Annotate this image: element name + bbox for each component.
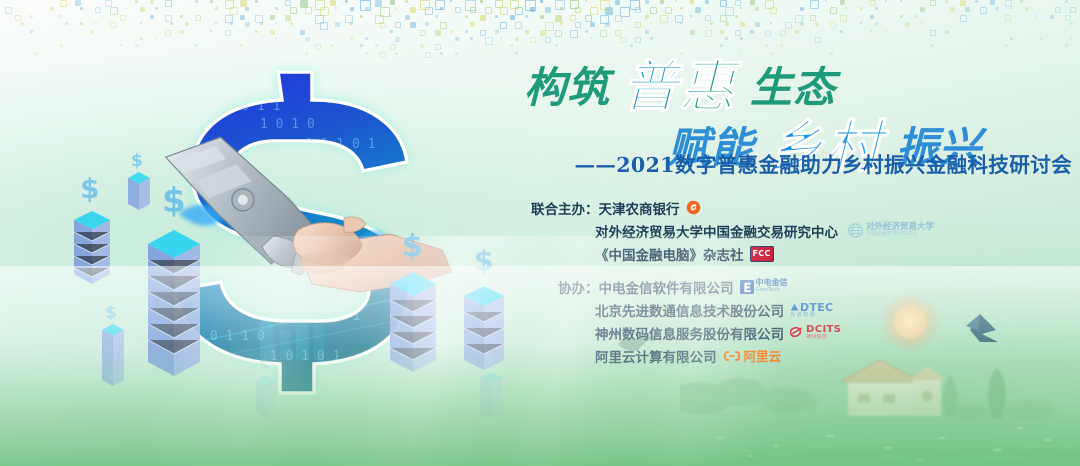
farmhouse-icon xyxy=(840,360,945,416)
subtitle: ——2021数字普惠金融助力乡村振兴金融科技研讨会 xyxy=(520,148,1072,178)
svg-text:普惠: 普惠 xyxy=(622,55,743,120)
svg-text:$: $ xyxy=(105,303,117,323)
organizer-name-1: 天津农商银行 xyxy=(599,198,680,218)
svg-text:构筑: 构筑 xyxy=(524,63,616,112)
svg-text:1 0 1 1 0: 1 0 1 1 0 xyxy=(190,267,260,282)
organizers-label: 联合主办： xyxy=(531,198,599,218)
svg-text:$: $ xyxy=(474,244,493,277)
rural-scenery xyxy=(680,286,1080,466)
svg-text:0 1 0 1 1: 0 1 0 1 1 xyxy=(210,99,280,114)
svg-text:$: $ xyxy=(402,229,423,264)
organizer-name-2: 对外经济贸易大学中国金融交易研究中心 xyxy=(595,221,838,241)
svg-text:0 1 0 1: 0 1 0 1 xyxy=(240,289,295,304)
uibe-logo-subtext: 中国金融交易研究中心 xyxy=(866,232,934,237)
svg-text:$: $ xyxy=(483,351,494,370)
swallow-icon xyxy=(966,314,998,342)
headline-line-1: 构筑 普惠 生态 xyxy=(524,55,841,120)
organizer-row: 《中国金融电脑》杂志社 FCC xyxy=(531,243,1001,264)
cypress-tree-icon xyxy=(943,366,1056,420)
svg-text:$: $ xyxy=(162,181,186,221)
organizer-name-3: 《中国金融电脑》杂志社 xyxy=(595,244,744,264)
svg-text:生态: 生态 xyxy=(750,63,841,112)
dollar-handshake-artwork: 0 1 0 1 1 1 0 1 0 0 1 1 0 1 1 0 0 1 0 1 … xyxy=(60,48,530,418)
coorganizers-label: 协办： xyxy=(531,277,599,297)
fcc-logo-text: FCC xyxy=(750,246,774,262)
fcc-logo: FCC xyxy=(750,246,774,262)
svg-text:1 0 1 0: 1 0 1 0 xyxy=(260,117,315,132)
organizer-row: 对外经济贸易大学中国金融交易研究中心 对外经济贸易大学 中国金融交易研究中心 xyxy=(531,220,1001,241)
svg-text:$: $ xyxy=(131,151,143,171)
uibe-logo: 对外经济贸易大学 中国金融交易研究中心 xyxy=(848,223,934,238)
tianjin-rural-commercial-bank-logo xyxy=(686,200,701,215)
distant-trees xyxy=(680,378,818,414)
organizer-row: 联合主办： 天津农商银行 xyxy=(531,197,1001,218)
svg-text:0 1 0: 0 1 0 xyxy=(315,177,354,192)
svg-text:$: $ xyxy=(80,172,99,205)
grass-flecks xyxy=(716,427,1052,462)
svg-text:0 1 1 0 1: 0 1 1 0 1 xyxy=(305,137,375,152)
flying-bird-icon xyxy=(612,326,660,360)
poster-banner: 0 1 0 1 1 1 0 1 0 0 1 1 0 1 1 0 0 1 0 1 … xyxy=(0,0,1080,466)
svg-text:$: $ xyxy=(259,356,269,374)
sun-icon xyxy=(880,292,940,352)
